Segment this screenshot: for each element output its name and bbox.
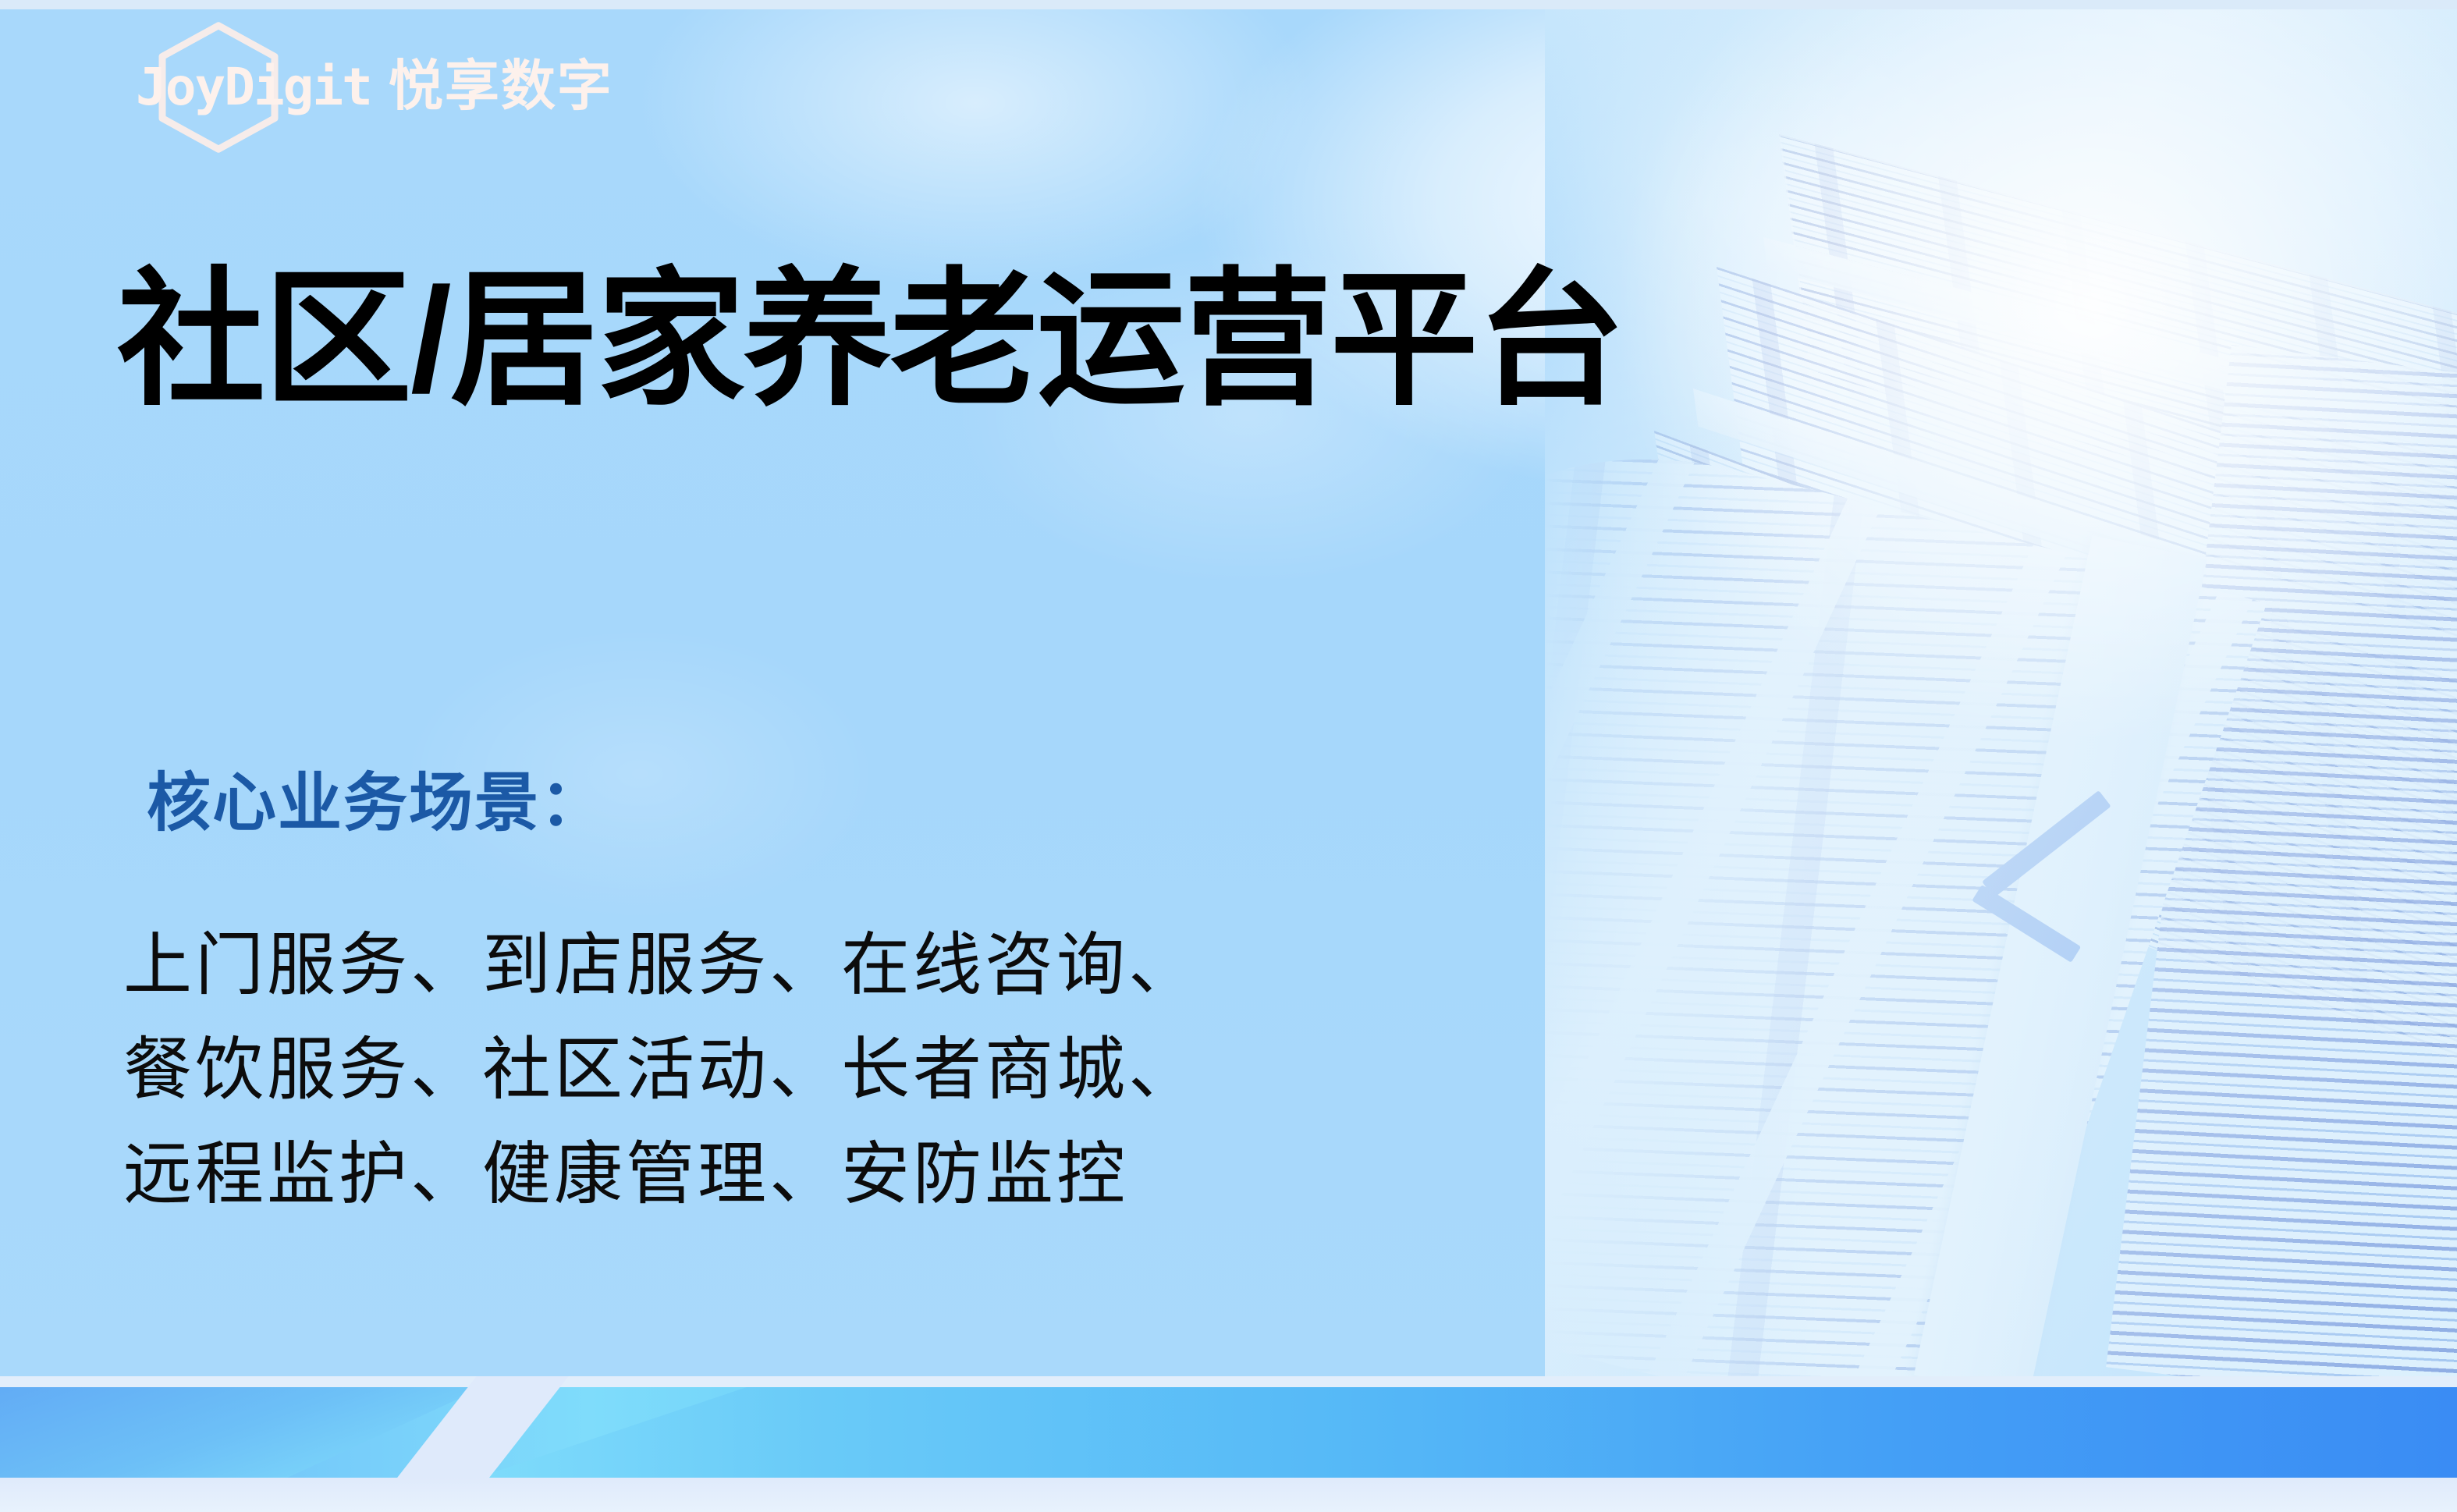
slide-canvas: JoyDigit悦享数字 社区/居家养老运营平台 核心业务场景： 上门服务、到店…: [0, 0, 2457, 1512]
bottom-fade: [0, 1478, 2457, 1512]
brand-logo-cn: 悦享数字: [389, 55, 613, 116]
brand-logo-text: JoyDigit悦享数字: [136, 56, 613, 114]
brand-logo-en: JoyDigit: [136, 57, 371, 117]
scenario-line: 上门服务、到店服务、在线咨询、: [123, 913, 1606, 1017]
bottom-accent-bar: [0, 1376, 2457, 1512]
section-heading: 核心业务场景：: [147, 768, 605, 839]
photo-haze-overlay: [1545, 9, 2457, 1376]
building-photo: [1545, 9, 2457, 1376]
scenario-line: 餐饮服务、社区活动、长者商城、: [123, 1017, 1606, 1122]
brand-logo: JoyDigit悦享数字: [117, 44, 663, 130]
accent-plate-right: [468, 1387, 2457, 1481]
page-title: 社区/居家养老运营平台: [117, 259, 1624, 422]
scenario-list: 上门服务、到店服务、在线咨询、 餐饮服务、社区活动、长者商城、 远程监护、健康管…: [123, 913, 1606, 1226]
scenario-line: 远程监护、健康管理、安防监控: [123, 1122, 1606, 1226]
accent-strip: [0, 1387, 2457, 1481]
